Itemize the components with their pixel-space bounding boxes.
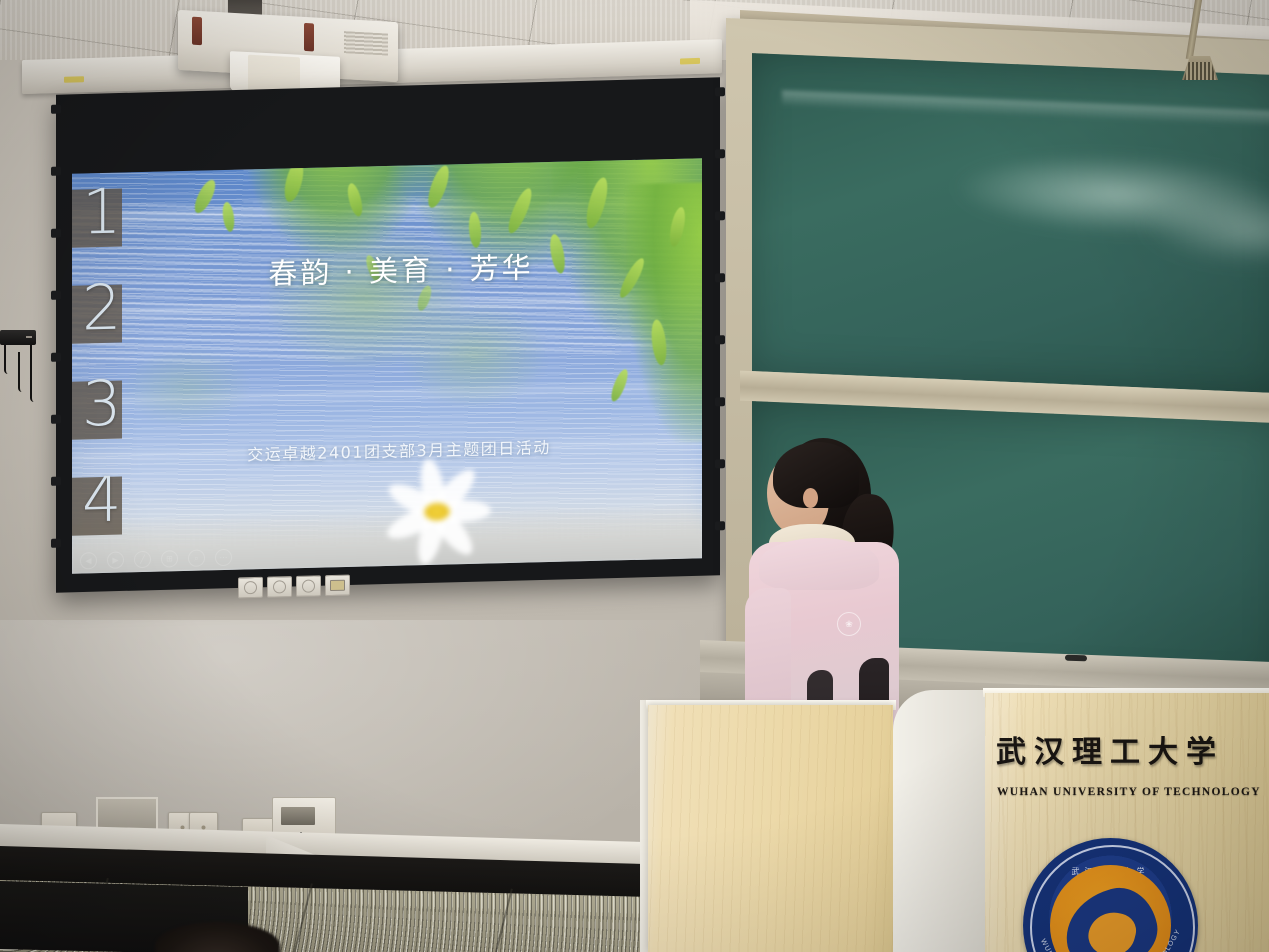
university-name-en: WUHAN UNIVERSITY OF TECHNOLOGY xyxy=(997,786,1257,798)
university-name-cn: 武汉理工大学 xyxy=(996,727,1256,771)
willow-reflection xyxy=(400,298,550,412)
wall-switch-panel[interactable] xyxy=(238,575,350,599)
ear xyxy=(803,488,818,508)
wall-cable xyxy=(4,344,8,374)
spotlight-grill xyxy=(1184,62,1216,80)
blackboard-glare xyxy=(1142,189,1269,268)
light-switch[interactable] xyxy=(267,576,292,598)
next-slide-icon[interactable]: ▶ xyxy=(107,551,124,568)
wall-cable xyxy=(30,344,34,402)
projector-indicator xyxy=(192,17,202,46)
chalk-piece[interactable] xyxy=(1065,655,1087,662)
power-socket[interactable] xyxy=(325,575,350,597)
willow-reflection xyxy=(122,345,252,428)
blackboard-panel-upper xyxy=(752,53,1269,393)
podium-side-panel xyxy=(893,690,989,952)
projected-slide: 1 2 3 4 春韵 · 美育 · 芳华 交运卓越2401团支部3月主题团日活动… xyxy=(72,158,702,573)
desk-front-panel xyxy=(648,705,893,952)
wood-grain xyxy=(648,705,893,952)
housing-warning-tag xyxy=(680,58,700,65)
jacket-badge-icon: ❀ xyxy=(837,612,861,636)
light-switch[interactable] xyxy=(296,575,321,597)
zoom-tool-icon[interactable]: ⌕ xyxy=(188,549,205,566)
agenda-number-4: 4 xyxy=(82,470,121,529)
chalk-dust xyxy=(782,90,1269,128)
agenda-number-3: 3 xyxy=(82,374,121,433)
housing-warning-tag xyxy=(64,76,84,83)
more-options-icon[interactable]: ⋯ xyxy=(215,549,232,566)
screen-tension-tabs xyxy=(51,105,61,585)
all-slides-icon[interactable]: ⊞ xyxy=(161,550,178,567)
light-switch[interactable] xyxy=(238,577,263,599)
wall-cable xyxy=(18,352,22,392)
projector-vent xyxy=(344,31,388,55)
agenda-number-strip: 1 2 3 4 xyxy=(72,188,130,557)
classroom-photo: 1 2 3 4 春韵 · 美育 · 芳华 交运卓越2401团支部3月主题团日活动… xyxy=(0,0,1269,952)
jacket-hood xyxy=(759,538,879,590)
projector-indicator xyxy=(304,23,314,52)
willow-branch xyxy=(626,180,702,444)
previous-slide-icon[interactable]: ◀ xyxy=(80,552,97,569)
presenter-person: ❀ xyxy=(745,438,920,738)
daisy-flower xyxy=(362,475,512,549)
agenda-number-1: 1 xyxy=(82,182,121,241)
pen-tool-icon[interactable]: ╱ xyxy=(134,551,151,568)
wall-speaker-icon xyxy=(0,330,36,345)
